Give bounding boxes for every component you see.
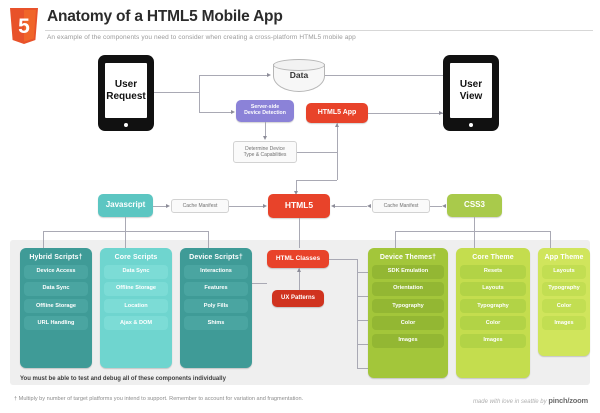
group-item[interactable]: Layouts: [460, 282, 526, 296]
group-item[interactable]: Device Access: [24, 265, 88, 279]
connector-device-themes-down: [395, 231, 396, 248]
credit: made with love in seattle by pinch/zoom: [473, 396, 588, 405]
group-device-themes: Device Themes†SDK EmulationOrientationTy…: [368, 248, 448, 378]
html-classes-node: HTML Classes: [267, 250, 329, 268]
group-item[interactable]: Orientation: [372, 282, 444, 296]
group-item[interactable]: SDK Emulation: [372, 265, 444, 279]
user-request-screen: User Request: [105, 63, 147, 118]
arrow-ux-to-classes: [297, 268, 301, 272]
connector-js-to-cache: [153, 206, 166, 207]
user-view-tablet: User View: [443, 55, 499, 131]
connector-app-vertical: [337, 123, 338, 152]
connector-split-to-data: [199, 75, 267, 76]
arrow-right-cache-in: [367, 204, 371, 208]
determine-line1: Determine Device: [245, 146, 285, 152]
group-item[interactable]: Ajax & DOM: [104, 316, 168, 330]
group-item[interactable]: Features: [184, 282, 248, 296]
group-item[interactable]: Typography: [372, 299, 444, 313]
arrow-to-determine: [263, 136, 267, 140]
group-item[interactable]: Images: [460, 334, 526, 348]
ux-patterns-node: UX Patterns: [272, 290, 324, 307]
user-request-line1: User: [115, 79, 137, 90]
connector-into-html5: [296, 180, 297, 191]
connector-app-theme-h: [474, 231, 550, 232]
determine-line2: Type & Capabilities: [244, 152, 287, 158]
group-hybrid-scripts: Hybrid Scripts†Device AccessData SyncOff…: [20, 248, 92, 368]
group-title: Device Themes†: [372, 254, 444, 261]
connector-core-theme-down: [474, 231, 475, 248]
arrow-cache-html5-right: [331, 204, 335, 208]
user-view-line2: View: [460, 91, 483, 102]
connector-core-scripts-down: [125, 231, 126, 248]
group-item[interactable]: Poly Fills: [184, 299, 248, 313]
group-device-scripts: Device Scripts†InteractionsFeaturesPoly …: [180, 248, 252, 368]
css3-node: CSS3: [447, 194, 502, 217]
connector-html5-down: [299, 218, 300, 248]
group-title: Core Theme: [460, 254, 526, 261]
arrow-js-cache: [166, 204, 170, 208]
group-item[interactable]: Data Sync: [104, 265, 168, 279]
title-divider: [45, 30, 593, 31]
user-view-screen: User View: [450, 63, 492, 118]
group-item[interactable]: Color: [542, 299, 586, 313]
javascript-node: Javascript: [98, 194, 153, 217]
device-detection-line2: Device Detection: [244, 110, 286, 116]
connector-css3-down: [474, 217, 475, 231]
data-label: Data: [273, 70, 325, 80]
connector-device-scripts-down: [208, 231, 209, 248]
connector-detection-to-determine: [265, 122, 266, 136]
group-title: App Theme: [542, 254, 586, 261]
connector-classes-to-themes: [329, 259, 357, 260]
group-core-theme: Core ThemeResetsLayoutsTypographyColorIm…: [456, 248, 530, 378]
group-item[interactable]: Shims: [184, 316, 248, 330]
credit-prefix: made with love in seattle by: [473, 399, 547, 405]
html5-app-node: HTML5 App: [306, 103, 368, 123]
arrow-to-css3: [442, 204, 446, 208]
group-item[interactable]: Images: [372, 334, 444, 348]
cache-manifest-right-box: Cache Manifest: [372, 199, 430, 213]
connector-app-down-h: [296, 180, 337, 181]
group-item[interactable]: Color: [460, 316, 526, 330]
footnote: † Multiply by number of target platforms…: [14, 396, 303, 402]
home-button-icon: [469, 123, 473, 127]
infographic-canvas: 5 Anatomy of a HTML5 Mobile App An examp…: [0, 0, 600, 413]
arrow-to-user-view: [439, 111, 443, 115]
connector-cache-to-css3: [430, 206, 442, 207]
arrow-to-data: [267, 73, 271, 77]
connector-html5-to-cache-right: [335, 206, 367, 207]
page-subtitle: An example of the components you need to…: [47, 34, 356, 41]
connector-app-to-view: [368, 113, 443, 114]
connector-split-to-detection: [199, 112, 231, 113]
user-view-line1: User: [460, 79, 482, 90]
group-title: Device Scripts†: [184, 254, 248, 261]
connector-app-down: [337, 152, 338, 180]
cache-manifest-left-box: Cache Manifest: [171, 199, 229, 213]
connector-themes-rail: [357, 259, 358, 369]
server-side-device-detection-node: Server-side Device Detection: [236, 100, 294, 122]
group-core-scripts: Core ScriptsData SyncOffline StorageLoca…: [100, 248, 172, 368]
arrow-cache-html5-left: [263, 204, 267, 208]
panel-note: You must be able to test and debug all o…: [20, 376, 226, 382]
connector-data-to-view: [325, 75, 443, 76]
credit-brand: pinch/zoom: [548, 396, 588, 405]
user-request-tablet: User Request: [98, 55, 154, 131]
home-button-icon: [124, 123, 128, 127]
connector-split-vertical: [199, 75, 200, 113]
connector-hybrid-down: [43, 231, 44, 248]
group-item[interactable]: Resets: [460, 265, 526, 279]
page-title: Anatomy of a HTML5 Mobile App: [47, 8, 283, 26]
group-item[interactable]: Offline Storage: [104, 282, 168, 296]
group-item[interactable]: Layouts: [542, 265, 586, 279]
group-item[interactable]: Interactions: [184, 265, 248, 279]
group-title: Hybrid Scripts†: [24, 254, 88, 261]
arrow-to-detection: [231, 110, 235, 114]
html5-shield-icon: 5: [8, 6, 40, 46]
group-item[interactable]: Data Sync: [24, 282, 88, 296]
group-item[interactable]: Typography: [542, 282, 586, 296]
group-app-theme: App ThemeLayoutsTypographyColorImages: [538, 248, 590, 356]
html5-node: HTML5: [268, 194, 330, 218]
group-item[interactable]: URL Handling: [24, 316, 88, 330]
group-title: Core Scripts: [104, 254, 168, 261]
data-store-cylinder: Data: [273, 59, 325, 92]
arrow-to-html5-app: [335, 123, 339, 127]
connector-js-down: [125, 217, 126, 231]
group-item[interactable]: Typography: [460, 299, 526, 313]
group-item[interactable]: Images: [542, 316, 586, 330]
connector-app-theme-down: [550, 231, 551, 248]
determine-device-type-box: Determine Device Type & Capabilities: [233, 141, 297, 163]
connector-request-to-split: [154, 92, 199, 93]
user-request-line2: Request: [106, 91, 145, 102]
group-item[interactable]: Offline Storage: [24, 299, 88, 313]
group-item[interactable]: Color: [372, 316, 444, 330]
svg-text:5: 5: [18, 15, 30, 38]
connector-determine-to-app: [297, 152, 337, 153]
connector-cache-to-html5-left: [229, 206, 263, 207]
group-item[interactable]: Location: [104, 299, 168, 313]
